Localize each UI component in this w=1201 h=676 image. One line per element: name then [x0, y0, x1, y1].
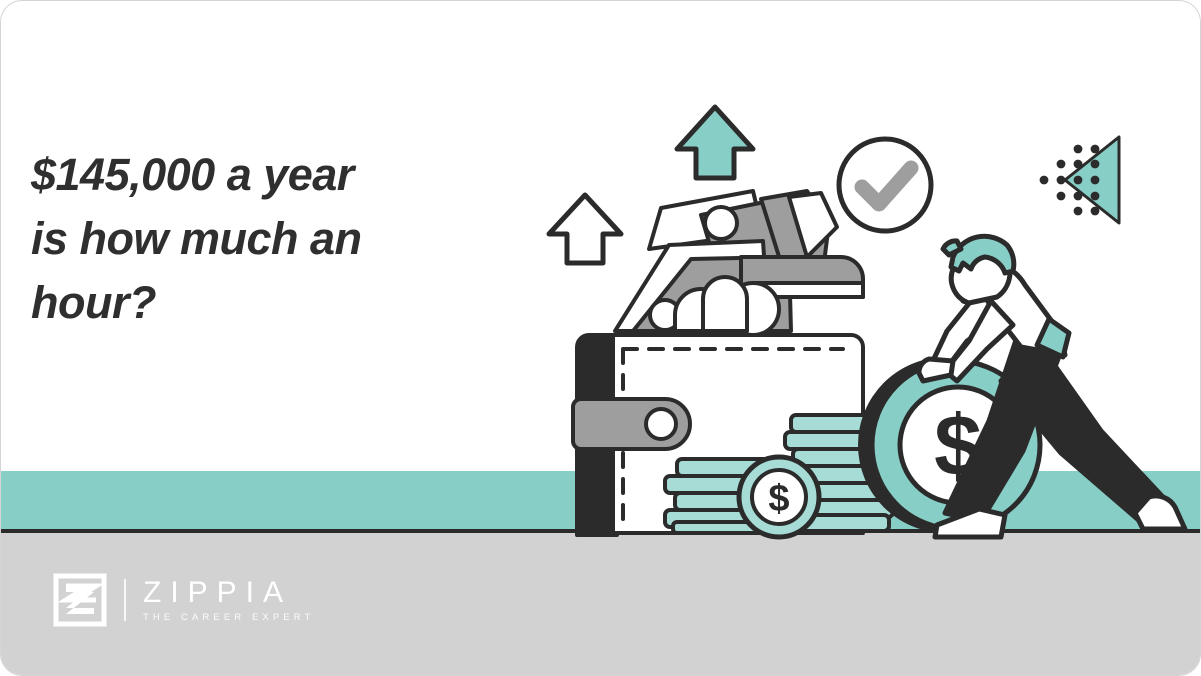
dotted-triangle-decoration: [1040, 137, 1119, 223]
zippia-logo[interactable]: ZIPPIA THE CAREER EXPERT: [53, 573, 314, 627]
headline-line-1: $145,000 a year: [31, 143, 461, 207]
infographic-card: $145,000 a year is how much an hour?: [0, 0, 1201, 676]
headline-line-2: is how much an: [31, 207, 461, 271]
logo-tagline: THE CAREER EXPERT: [143, 613, 314, 623]
check-circle-icon: [839, 139, 931, 231]
zippia-logo-mark: [53, 573, 107, 627]
banknotes: [615, 191, 863, 335]
headline-line-3: hour?: [31, 271, 461, 335]
arrow-up-outline: [549, 195, 621, 263]
ground-line: [1, 529, 1200, 533]
arrow-up-teal: [677, 107, 753, 178]
headline: $145,000 a year is how much an hour?: [31, 143, 461, 335]
logo-text: ZIPPIA THE CAREER EXPERT: [143, 578, 314, 623]
logo-divider: [124, 579, 126, 621]
logo-wordmark: ZIPPIA: [143, 578, 314, 608]
teal-background-band: [1, 471, 1200, 532]
